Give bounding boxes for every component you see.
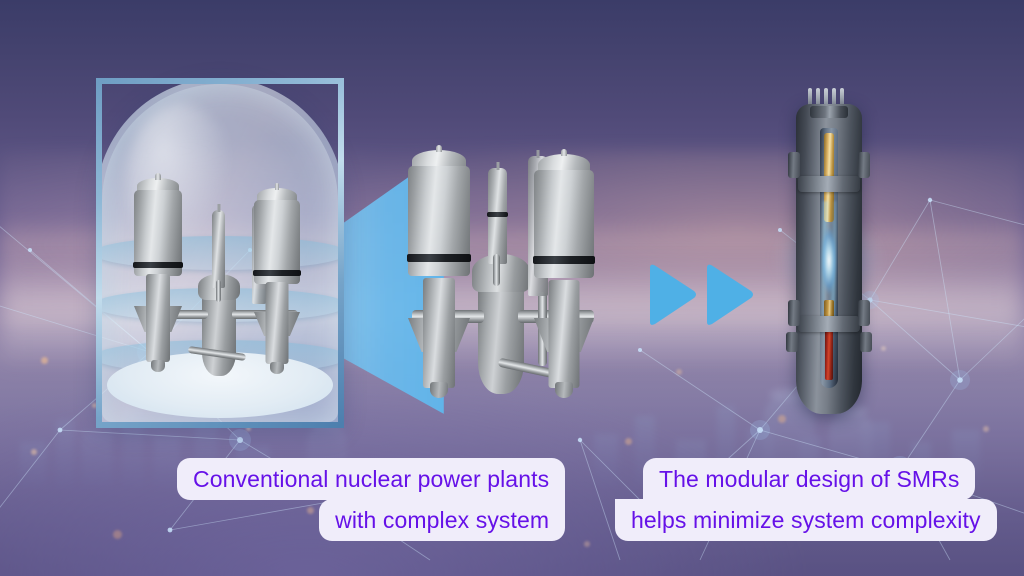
chevron-right-icon-1[interactable] — [642, 262, 698, 328]
steam-generator-right-detail — [534, 154, 594, 388]
smr-lug-left-upper — [788, 152, 800, 178]
smr-head-plate — [810, 106, 848, 118]
smr-lug-right-lower — [858, 300, 870, 326]
steam-generator-left — [134, 178, 182, 362]
sg-right-foot — [270, 362, 284, 374]
sg-right-neck — [266, 282, 289, 364]
pressurizer-belt-detail — [487, 212, 508, 217]
containment-dome — [96, 78, 344, 428]
smr-support-right — [860, 332, 872, 352]
steam-generator-left-detail — [408, 150, 470, 388]
pressurizer — [212, 210, 225, 288]
smr-core-cutaway — [820, 128, 838, 388]
smr-flange-upper — [798, 176, 860, 192]
reactor-vessel-detail — [478, 282, 524, 394]
pressurizer-surge-line — [216, 280, 221, 302]
sg-left-foot-detail — [430, 382, 448, 398]
sg-left-neck-detail — [423, 278, 455, 388]
sg-right-belt — [253, 270, 301, 276]
caption-conventional-line1: Conventional nuclear power plants — [177, 458, 565, 500]
steam-generator-right — [254, 188, 300, 364]
smr-support-left — [786, 332, 798, 352]
caption-smr-line1: The modular design of SMRs — [643, 458, 975, 500]
smr-lug-left-lower — [788, 300, 800, 326]
sg-right-neck-detail — [549, 280, 580, 388]
sg-left-neck — [146, 274, 170, 362]
smr-reactor-core-glow — [821, 206, 837, 315]
caption-smr-line2: helps minimize system complexity — [615, 499, 997, 541]
chevron-right-icon-2[interactable] — [699, 262, 755, 328]
pressurizer-surge-line-detail — [493, 254, 500, 286]
smr-lug-right-upper — [858, 152, 870, 178]
conventional-plant-detail — [406, 150, 596, 418]
sg-left-belt — [133, 262, 183, 268]
dome-shell — [96, 78, 344, 428]
sg-right-belt-detail — [533, 256, 595, 264]
sg-left-belt-detail — [407, 254, 471, 262]
reactor-vessel — [202, 292, 236, 376]
caption-conventional: Conventional nuclear power plants with c… — [177, 458, 565, 541]
sg-left-foot — [151, 360, 165, 372]
caption-smr: The modular design of SMRs helps minimiz… — [615, 458, 997, 541]
smr-flange-lower — [798, 316, 860, 332]
infographic-stage: Conventional nuclear power plants with c… — [0, 0, 1024, 576]
caption-conventional-line2: with complex system — [319, 499, 565, 541]
sg-right-foot-detail — [555, 382, 573, 398]
smr-module — [786, 88, 872, 422]
smr-pressure-vessel — [796, 104, 862, 414]
transition-arrows[interactable] — [642, 262, 760, 328]
